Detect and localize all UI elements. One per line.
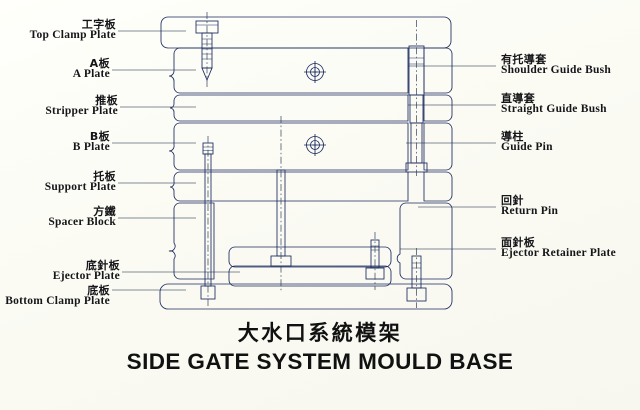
- return-pin: [366, 232, 384, 290]
- label-en: B Plate: [0, 142, 110, 154]
- label-return-pin: 回針 Return Pin: [501, 195, 558, 218]
- centre-ejector-pin: [271, 116, 291, 292]
- label-en: A Plate: [0, 69, 110, 81]
- title-chinese: 大水口系統模架: [0, 317, 640, 347]
- top-clamp-cap-screw: [196, 12, 218, 88]
- label-en: Support Plate: [0, 182, 116, 194]
- leader-lines-left: [112, 31, 240, 290]
- label-support-plate: 托板 Support Plate: [0, 171, 116, 194]
- bottom-clamp-screw-right: [407, 248, 426, 308]
- support-plate: [170, 172, 452, 201]
- spacer-block: [169, 203, 452, 279]
- ejector-plate: [229, 266, 391, 286]
- label-en: Ejector Retainer Plate: [501, 248, 616, 260]
- datum-target-b-plate: [304, 134, 326, 156]
- label-en: Ejector Plate: [0, 271, 120, 283]
- label-b-plate: B板 B Plate: [0, 131, 110, 154]
- label-stripper-plate: 推板 Stripper Plate: [0, 95, 118, 118]
- label-shoulder-guide-bush: 有托導套 Shoulder Guide Bush: [501, 54, 611, 77]
- label-straight-guide-bush: 直導套 Straight Guide Bush: [501, 93, 607, 116]
- datum-target-a-plate: [304, 61, 326, 83]
- diagram-title: 大水口系統模架 SIDE GATE SYSTEM MOULD BASE: [0, 317, 640, 375]
- leader-lines-right: [400, 66, 496, 249]
- label-bottom-clamp-plate: 底板 Bottom Clamp Plate: [0, 285, 110, 308]
- label-ejector-plate: 底針板 Ejector Plate: [0, 260, 120, 283]
- title-english: SIDE GATE SYSTEM MOULD BASE: [0, 349, 640, 375]
- label-en: Return Pin: [501, 206, 558, 218]
- label-en: Spacer Block: [0, 217, 116, 229]
- label-en: Bottom Clamp Plate: [0, 296, 110, 308]
- label-guide-pin: 導柱 Guide Pin: [501, 131, 553, 154]
- diagram-canvas: 工字板 Top Clamp Plate A板 A Plate 推板 Stripp…: [0, 0, 640, 410]
- label-en: Stripper Plate: [0, 106, 118, 118]
- ejector-pin-left: [201, 136, 215, 306]
- top-clamp-plate: [161, 17, 451, 48]
- label-a-plate: A板 A Plate: [0, 58, 110, 81]
- label-en: Top Clamp Plate: [0, 30, 116, 42]
- ejector-retainer-plate: [229, 247, 391, 267]
- label-top-clamp-plate: 工字板 Top Clamp Plate: [0, 19, 116, 42]
- label-ejector-retainer-plate: 面針板 Ejector Retainer Plate: [501, 237, 616, 260]
- label-spacer-block: 方鐵 Spacer Block: [0, 206, 116, 229]
- label-en: Guide Pin: [501, 142, 553, 154]
- label-en: Shoulder Guide Bush: [501, 65, 611, 77]
- label-en: Straight Guide Bush: [501, 104, 607, 116]
